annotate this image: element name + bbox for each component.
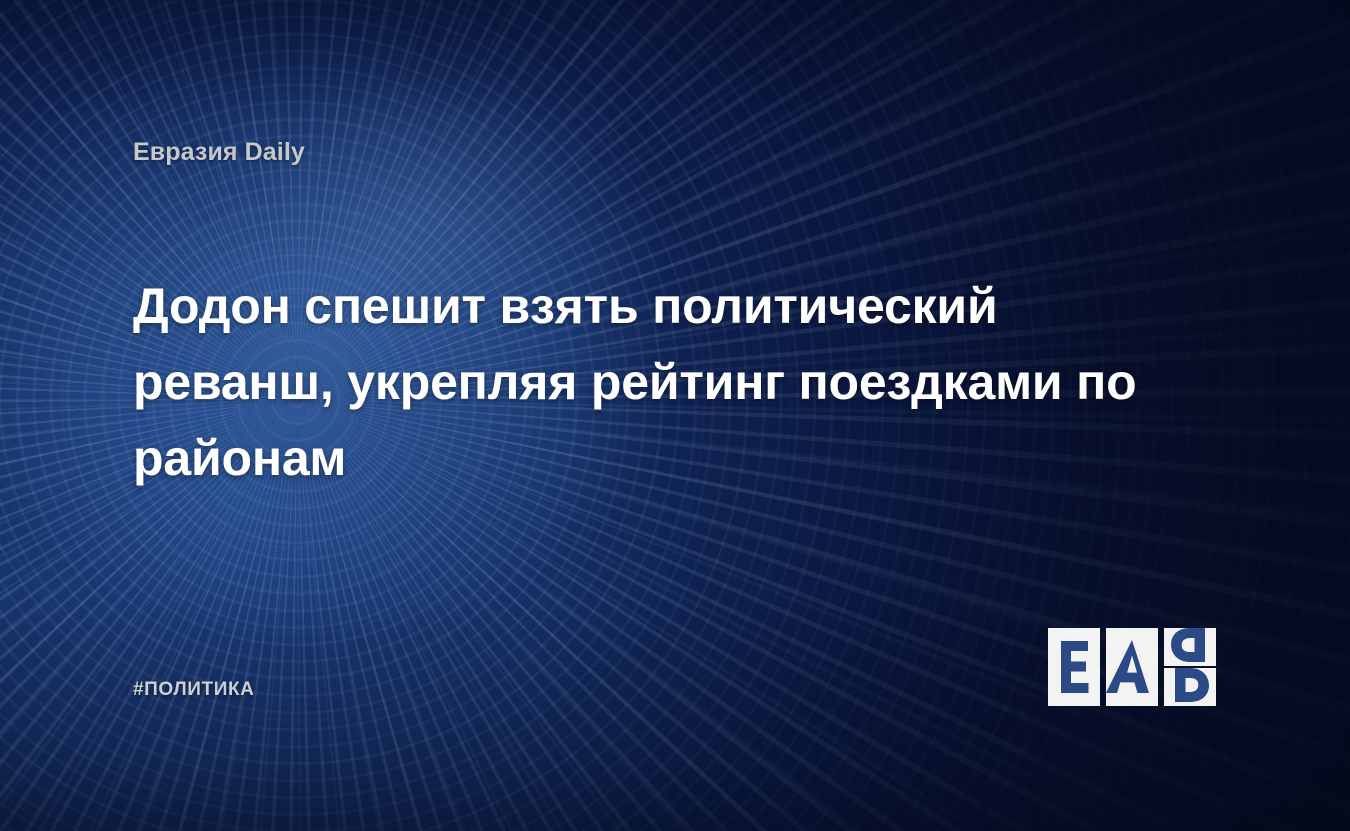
brand-name: Евразия Daily bbox=[133, 138, 305, 167]
letter-d-icon bbox=[1164, 668, 1216, 706]
page-title: Додон спешит взять политический реванш, … bbox=[133, 268, 1163, 496]
card-content: Евразия Daily Додон спешит взять политич… bbox=[0, 0, 1350, 831]
letter-d-rotated-icon bbox=[1164, 628, 1216, 666]
letter-e-tile-icon bbox=[1048, 628, 1100, 706]
letter-d-split-tile-icon bbox=[1164, 628, 1216, 706]
letter-a-tile-icon bbox=[1106, 628, 1158, 706]
category-tag: #ПОЛИТИКА bbox=[133, 679, 255, 701]
eadaily-logo bbox=[1048, 628, 1216, 706]
social-share-card: Евразия Daily Додон спешит взять политич… bbox=[0, 0, 1350, 831]
